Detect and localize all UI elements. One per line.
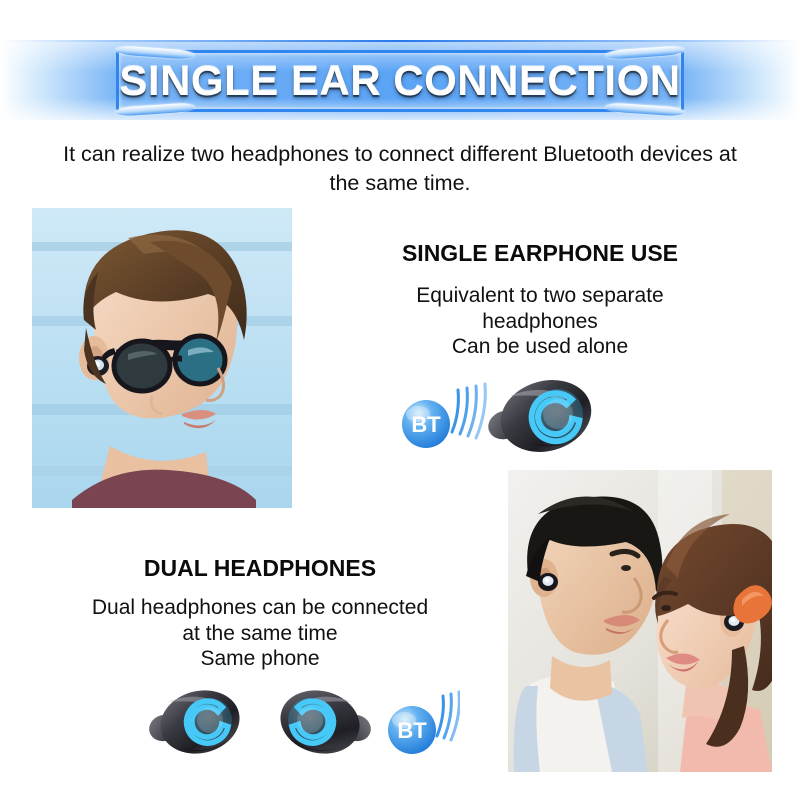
earbud-left-icon	[146, 682, 246, 762]
bt-and-earbud-illustration: BT	[398, 372, 598, 458]
photo-man-with-earbud	[32, 208, 292, 508]
dual-earbuds-graphic: BT	[140, 676, 460, 768]
photo-couple-with-earbuds	[508, 470, 772, 772]
banner: SINGLE EAR CONNECTION	[0, 42, 800, 120]
signal-waves-icon	[452, 384, 485, 438]
earbud-icon	[485, 372, 598, 458]
photo-couple-illustration	[508, 470, 772, 772]
signal-waves-icon	[437, 692, 459, 740]
earbud-right-icon	[274, 682, 374, 762]
single-earbud-graphic: BT	[398, 372, 598, 458]
product-infographic: SINGLE EAR CONNECTION It can realize two…	[0, 0, 800, 800]
dual-headphones-body: Dual headphones can be connected at the …	[45, 595, 475, 672]
dual-earbuds-and-bt-illustration: BT	[140, 676, 460, 768]
single-earphone-heading: SINGLE EARPHONE USE	[390, 240, 690, 267]
page-title: SINGLE EAR CONNECTION	[0, 42, 800, 120]
single-earphone-body: Equivalent to two separate headphones Ca…	[375, 283, 705, 360]
photo-man-illustration	[32, 208, 292, 508]
dual-headphones-heading: DUAL HEADPHONES	[60, 555, 460, 582]
subtitle: It can realize two headphones to connect…	[60, 140, 740, 198]
bt-badge-label: BT	[411, 412, 441, 437]
bt-badge-label: BT	[397, 718, 427, 743]
